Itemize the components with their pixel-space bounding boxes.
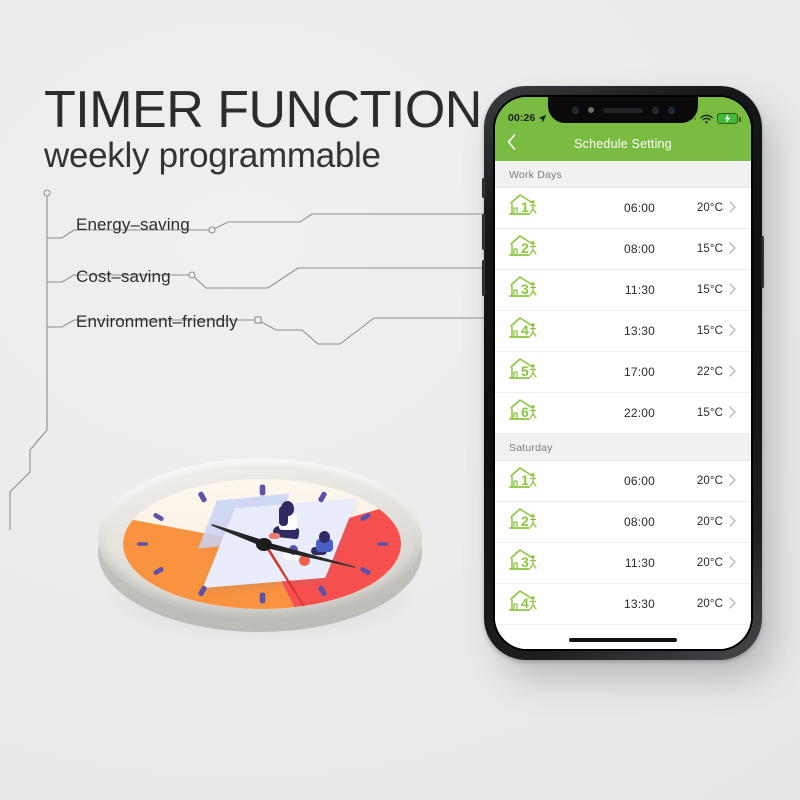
chevron-right-icon[interactable] (729, 597, 738, 611)
front-camera-icon (572, 107, 579, 114)
figure-mother-head (281, 501, 294, 516)
svg-text:6: 6 (521, 404, 529, 420)
clock-tick-12 (259, 485, 265, 496)
house-schedule-5-icon: 5 (509, 356, 545, 384)
schedule-row[interactable]: 413:3020°C (495, 584, 751, 625)
clock-tick-3 (377, 542, 388, 546)
phone-notch (548, 97, 698, 123)
schedule-slot-icon: 3 (509, 547, 553, 580)
house-schedule-2-icon: 2 (509, 506, 545, 534)
svg-text:3: 3 (521, 281, 529, 297)
app-navigation-bar: Schedule Setting (495, 127, 751, 161)
svg-text:5: 5 (521, 363, 529, 379)
mute-switch[interactable] (482, 178, 485, 198)
house-schedule-2-icon: 2 (509, 233, 545, 261)
feature-label-energy-saving: Energy–saving (76, 215, 190, 235)
schedule-row[interactable]: 311:3015°C (495, 270, 751, 311)
svg-text:2: 2 (521, 240, 529, 256)
house-schedule-1-icon: 1 (509, 465, 545, 493)
power-button[interactable] (761, 236, 764, 288)
lightning-bolt-icon (724, 114, 731, 123)
battery-charging-icon (717, 113, 738, 124)
schedule-list[interactable]: Work Days106:0020°C208:0015°C311:3015°C4… (495, 161, 751, 649)
clock-center-cap (256, 538, 272, 551)
schedule-temperature: 15°C (681, 243, 723, 255)
schedule-row[interactable]: 208:0020°C (495, 502, 751, 543)
chevron-right-icon[interactable] (729, 515, 738, 529)
wifi-icon (700, 114, 713, 124)
schedule-temperature: 20°C (681, 516, 723, 528)
schedule-time: 06:00 (611, 201, 655, 215)
poster-canvas: TIMER FUNCTION weekly programmable Energ… (0, 0, 800, 800)
schedule-slot-icon: 2 (509, 233, 553, 266)
schedule-time: 11:30 (611, 556, 655, 570)
svg-text:1: 1 (521, 199, 529, 215)
chevron-right-icon[interactable] (729, 201, 738, 215)
section-header: Work Days (495, 161, 751, 188)
schedule-row[interactable]: 106:0020°C (495, 461, 751, 502)
schedule-time: 17:00 (611, 365, 655, 379)
schedule-temperature: 20°C (681, 557, 723, 569)
svg-text:3: 3 (521, 554, 529, 570)
status-bar-left: 00:26 (508, 112, 547, 124)
feature-label-environment-friendly: Environment–friendly (76, 312, 238, 332)
proximity-sensor-icon (588, 107, 594, 113)
svg-text:4: 4 (521, 322, 529, 338)
phone-bezel: 00:26 (493, 95, 753, 651)
chevron-right-icon[interactable] (729, 556, 738, 570)
schedule-row[interactable]: 622:0015°C (495, 393, 751, 434)
house-schedule-3-icon: 3 (509, 274, 545, 302)
svg-text:4: 4 (521, 595, 529, 611)
figure-mother-foot (269, 533, 280, 539)
dot-projector-icon (668, 107, 675, 114)
schedule-slot-icon: 4 (509, 588, 553, 621)
schedule-temperature: 15°C (681, 407, 723, 419)
home-indicator-bar[interactable] (569, 638, 677, 642)
schedule-row[interactable]: 413:3015°C (495, 311, 751, 352)
section-header: Saturday (495, 434, 751, 461)
schedule-temperature: 20°C (681, 202, 723, 214)
schedule-temperature: 20°C (681, 598, 723, 610)
chevron-right-icon[interactable] (729, 324, 738, 338)
clock-body (96, 452, 426, 648)
schedule-time: 08:00 (611, 515, 655, 529)
svg-text:1: 1 (521, 472, 529, 488)
clock-tick-6 (259, 593, 265, 604)
schedule-row[interactable]: 517:0022°C (495, 352, 751, 393)
phone-screen: 00:26 (495, 97, 751, 649)
schedule-temperature: 15°C (681, 284, 723, 296)
schedule-temperature: 15°C (681, 325, 723, 337)
schedule-time: 11:30 (611, 283, 655, 297)
schedule-row[interactable]: 106:0020°C (495, 188, 751, 229)
wall-clock (96, 452, 426, 652)
schedule-row[interactable]: 311:3020°C (495, 543, 751, 584)
schedule-time: 08:00 (611, 242, 655, 256)
clock-rim (98, 458, 422, 618)
volume-up-button[interactable] (482, 214, 485, 250)
location-arrow-icon (538, 114, 547, 123)
figure-child-head (319, 531, 330, 543)
schedule-time: 13:30 (611, 324, 655, 338)
svg-text:2: 2 (521, 513, 529, 529)
schedule-time: 13:30 (611, 597, 655, 611)
feature-label-cost-saving: Cost–saving (76, 267, 171, 287)
schedule-temperature: 22°C (681, 366, 723, 378)
house-schedule-6-icon: 6 (509, 397, 545, 425)
volume-down-button[interactable] (482, 260, 485, 296)
smartphone-device: 00:26 (484, 86, 762, 660)
house-schedule-4-icon: 4 (509, 588, 545, 616)
earpiece-speaker-icon (603, 108, 643, 113)
house-schedule-1-icon: 1 (509, 192, 545, 220)
schedule-slot-icon: 2 (509, 506, 553, 539)
status-time: 00:26 (508, 112, 535, 124)
schedule-slot-icon: 3 (509, 274, 553, 307)
clock-tick-9 (137, 542, 148, 546)
chevron-right-icon[interactable] (729, 283, 738, 297)
chevron-right-icon[interactable] (729, 406, 738, 420)
schedule-time: 06:00 (611, 474, 655, 488)
schedule-slot-icon: 1 (509, 192, 553, 225)
schedule-slot-icon: 6 (509, 397, 553, 430)
chevron-right-icon[interactable] (729, 242, 738, 256)
house-schedule-3-icon: 3 (509, 547, 545, 575)
house-schedule-4-icon: 4 (509, 315, 545, 343)
schedule-slot-icon: 4 (509, 315, 553, 348)
chevron-right-icon[interactable] (729, 474, 738, 488)
chevron-right-icon[interactable] (729, 365, 738, 379)
schedule-time: 22:00 (611, 406, 655, 420)
clock-face (123, 479, 401, 609)
schedule-row[interactable]: 208:0015°C (495, 229, 751, 270)
schedule-temperature: 20°C (681, 475, 723, 487)
schedule-slot-icon: 5 (509, 356, 553, 389)
schedule-slot-icon: 1 (509, 465, 553, 498)
ir-camera-icon (652, 107, 659, 114)
screen-title: Schedule Setting (495, 137, 751, 151)
